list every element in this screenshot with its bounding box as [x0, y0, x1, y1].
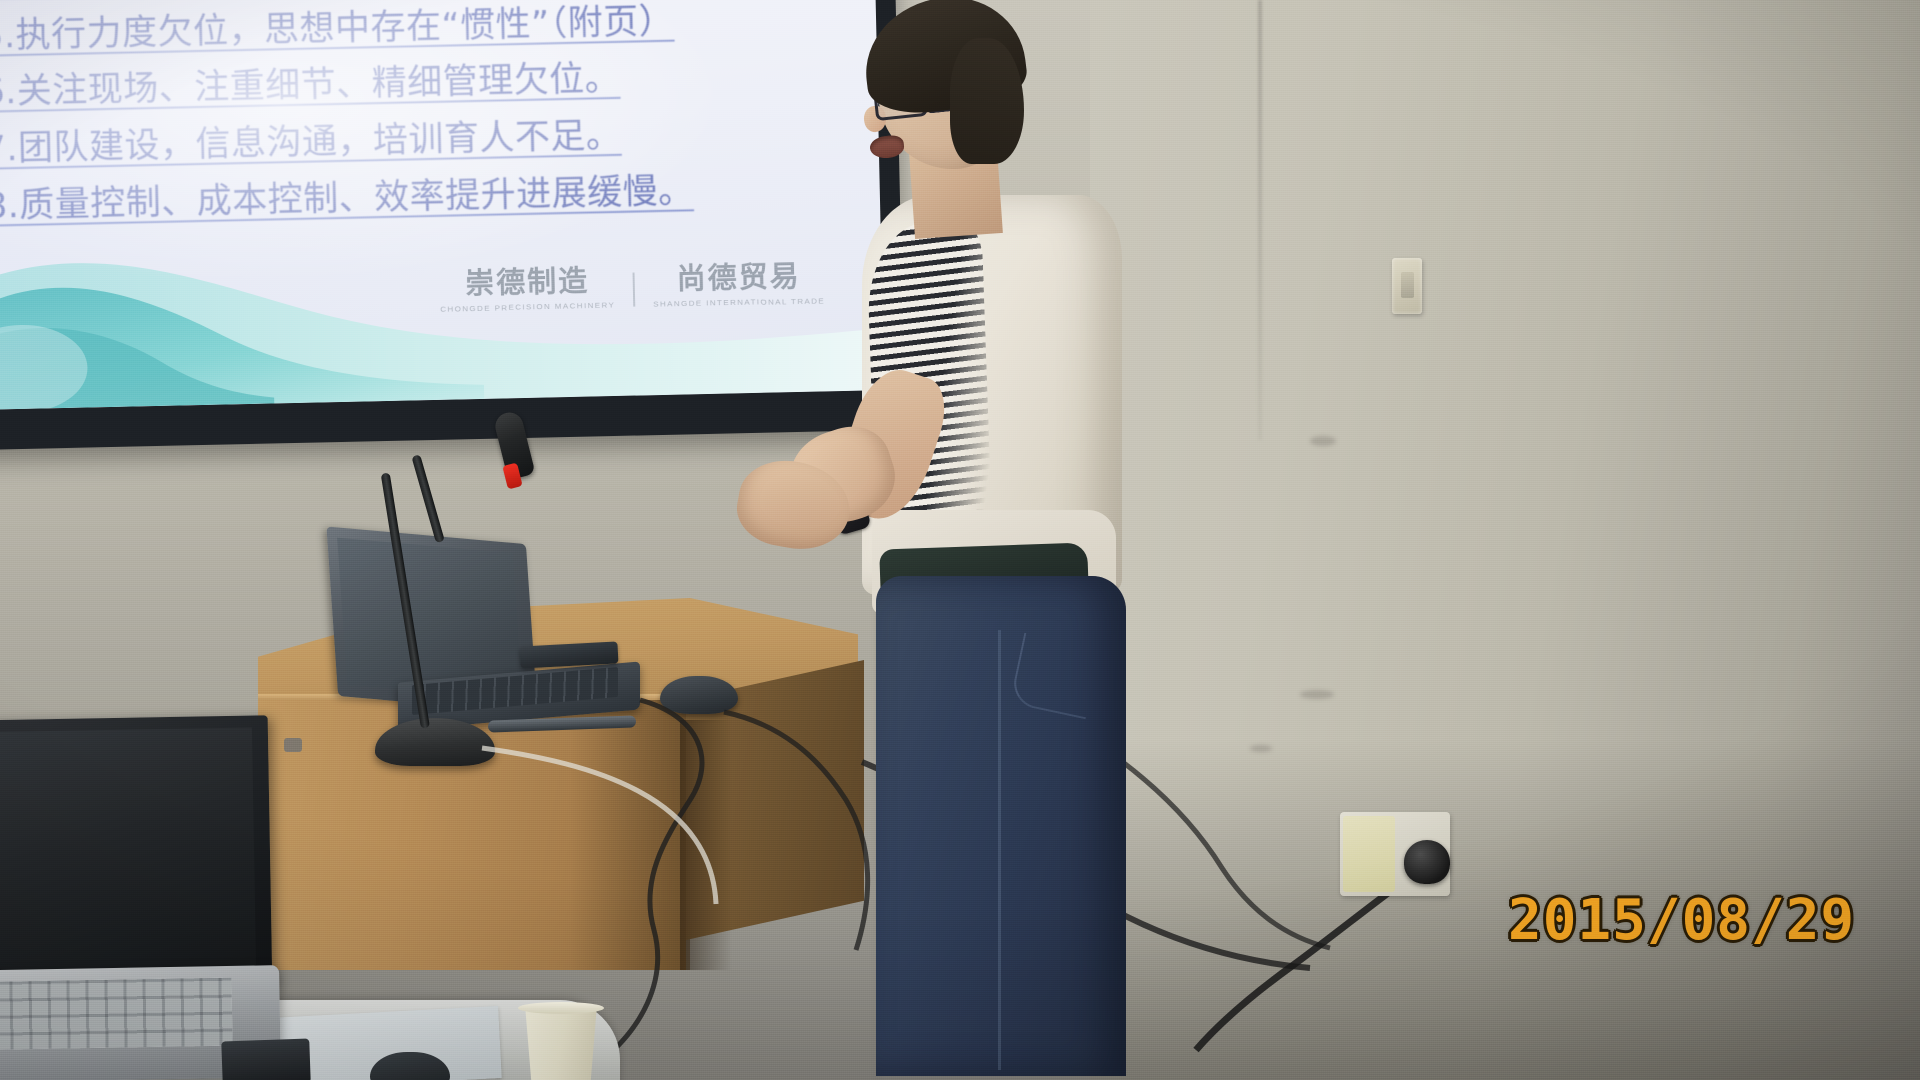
- power-adapter: [221, 1038, 310, 1080]
- laptop-side-keyboard: [0, 978, 233, 1051]
- presenter: [820, 0, 1180, 1080]
- camera-date-stamp: 2015/08/29: [1508, 888, 1855, 953]
- podium-leg-shadow: [680, 720, 732, 970]
- slide-bullet-text: 7.团队建设，信息沟通，培训育人不足。: [0, 112, 622, 176]
- slide-footer-logos: 崇德制造 CHONGDE PRECISION MACHINERY 尚德贸易 SH…: [421, 261, 843, 314]
- podium-front-shadow: [570, 700, 690, 970]
- slide-bullet-item: 8.质量控制、成本控制、效率提升进展缓慢。: [0, 164, 848, 233]
- slide-bullet-text: 5.执行力度欠位，思想中存在“惯性”（附页）: [0, 0, 675, 62]
- wall-seam: [1258, 0, 1262, 440]
- power-outlet-socket-left[interactable]: [1343, 816, 1395, 892]
- slide-bullet-text: 6.关注现场、注重细节、精细管理欠位。: [0, 55, 621, 119]
- presenter-mouth: [869, 134, 905, 159]
- wall-scuff: [1250, 745, 1272, 752]
- computer-mouse-podium: [660, 676, 738, 714]
- wall-scuff: [1300, 690, 1334, 699]
- logo-shangde: 尚德贸易 SHANGDE INTERNATIONAL TRADE: [634, 261, 843, 310]
- wall-scuff: [1310, 436, 1336, 446]
- projection-screen-surface: 4.标准化、规范化执行不到位。 5.执行力度欠位，思想中存在“惯性”（附页） 6…: [0, 0, 884, 410]
- light-switch[interactable]: [1392, 258, 1422, 314]
- slide-bullet-text: 8.质量控制、成本控制、效率提升进展缓慢。: [0, 167, 694, 232]
- logo-shangde-cn: 尚德贸易: [676, 262, 801, 294]
- projection-screen: 4.标准化、规范化执行不到位。 5.执行力度欠位，思想中存在“惯性”（附页） 6…: [0, 0, 905, 450]
- paper-cup: [522, 1006, 600, 1080]
- logo-chongde-cn: 崇德制造: [465, 267, 590, 299]
- photo-canvas: 4.标准化、规范化执行不到位。 5.执行力度欠位，思想中存在“惯性”（附页） 6…: [0, 0, 1920, 1080]
- laptop-side-screen: [0, 728, 256, 973]
- logo-chongde: 崇德制造 CHONGDE PRECISION MACHINERY: [421, 266, 633, 315]
- presenter-jeans-seam: [998, 630, 1001, 1070]
- power-plug[interactable]: [1404, 840, 1450, 884]
- slide-bullet-list: 4.标准化、规范化执行不到位。 5.执行力度欠位，思想中存在“惯性”（附页） 6…: [0, 0, 848, 240]
- paper-cup-rim: [518, 1002, 604, 1014]
- laptop-brand-logo: [284, 738, 302, 752]
